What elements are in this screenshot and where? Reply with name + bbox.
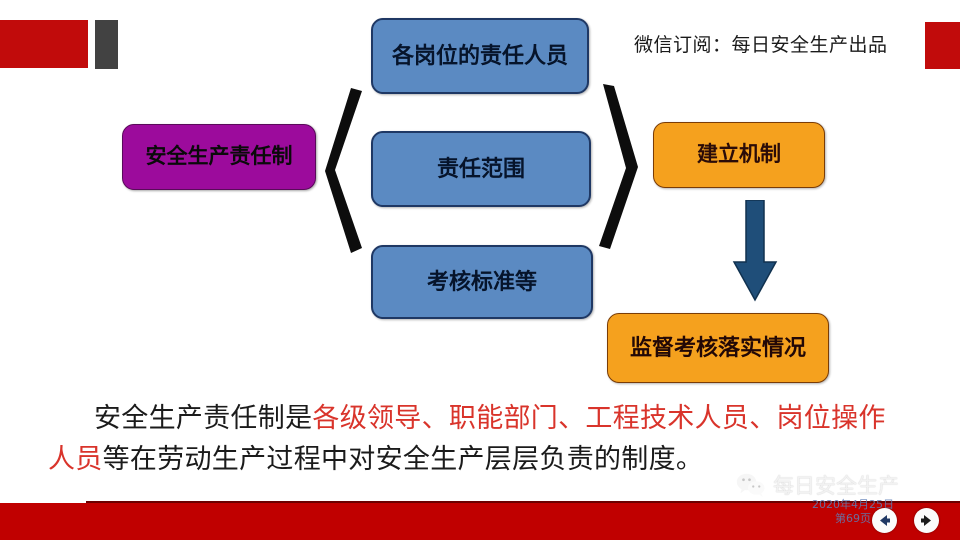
previous-page-button[interactable]: [872, 508, 897, 533]
arrow-left-icon: [877, 513, 892, 528]
next-page-button[interactable]: [914, 508, 939, 533]
node-supervise-assessment: 监督考核落实情况: [607, 313, 829, 383]
top-left-red-accent: [0, 20, 88, 68]
node-assessment-standard-label: 考核标准等: [427, 270, 537, 294]
node-positions-personnel: 各岗位的责任人员: [371, 18, 589, 94]
right-chevron-bracket: [596, 84, 640, 249]
node-establish-mechanism: 建立机制: [653, 122, 825, 188]
node-responsibility-system: 安全生产责任制: [122, 124, 316, 190]
down-arrow-icon: [730, 200, 780, 305]
node-duty-scope-label: 责任范围: [437, 157, 525, 181]
top-left-gray-accent: [95, 20, 118, 69]
arrow-right-icon: [919, 513, 934, 528]
body-text-rest: 等在劳动生产过程中对安全生产层层负责的制度。: [103, 444, 704, 475]
watermark: 每日安全生产: [736, 470, 899, 500]
node-assessment-standard: 考核标准等: [371, 245, 593, 319]
wechat-icon: [736, 472, 766, 498]
node-duty-scope: 责任范围: [371, 131, 591, 207]
footer-notch: [0, 499, 86, 503]
body-text-highlight-1: 各级领导、职能部门、工程技术人员、岗位操作: [312, 403, 885, 434]
slide-canvas: 微信订阅：每日安全生产出品 安全生产责任制 各岗位的责任人员 责任范围 考核标准…: [0, 0, 960, 540]
node-establish-mechanism-label: 建立机制: [697, 143, 781, 166]
header-caption: 微信订阅：每日安全生产出品: [634, 30, 888, 57]
left-chevron-bracket: [322, 88, 362, 253]
top-right-red-accent: [925, 22, 960, 69]
body-paragraph-line-1: 安全生产责任制是各级领导、职能部门、工程技术人员、岗位操作: [48, 398, 928, 439]
body-paragraph: 安全生产责任制是各级领导、职能部门、工程技术人员、岗位操作 人员等在劳动生产过程…: [48, 398, 928, 480]
node-supervise-assessment-label: 监督考核落实情况: [630, 336, 806, 360]
body-text-highlight-2: 人员: [48, 444, 103, 475]
node-positions-personnel-label: 各岗位的责任人员: [392, 44, 568, 68]
node-responsibility-system-label: 安全生产责任制: [146, 145, 293, 168]
body-text-prefix: 安全生产责任制是: [94, 403, 312, 434]
watermark-label: 每日安全生产: [773, 470, 899, 500]
